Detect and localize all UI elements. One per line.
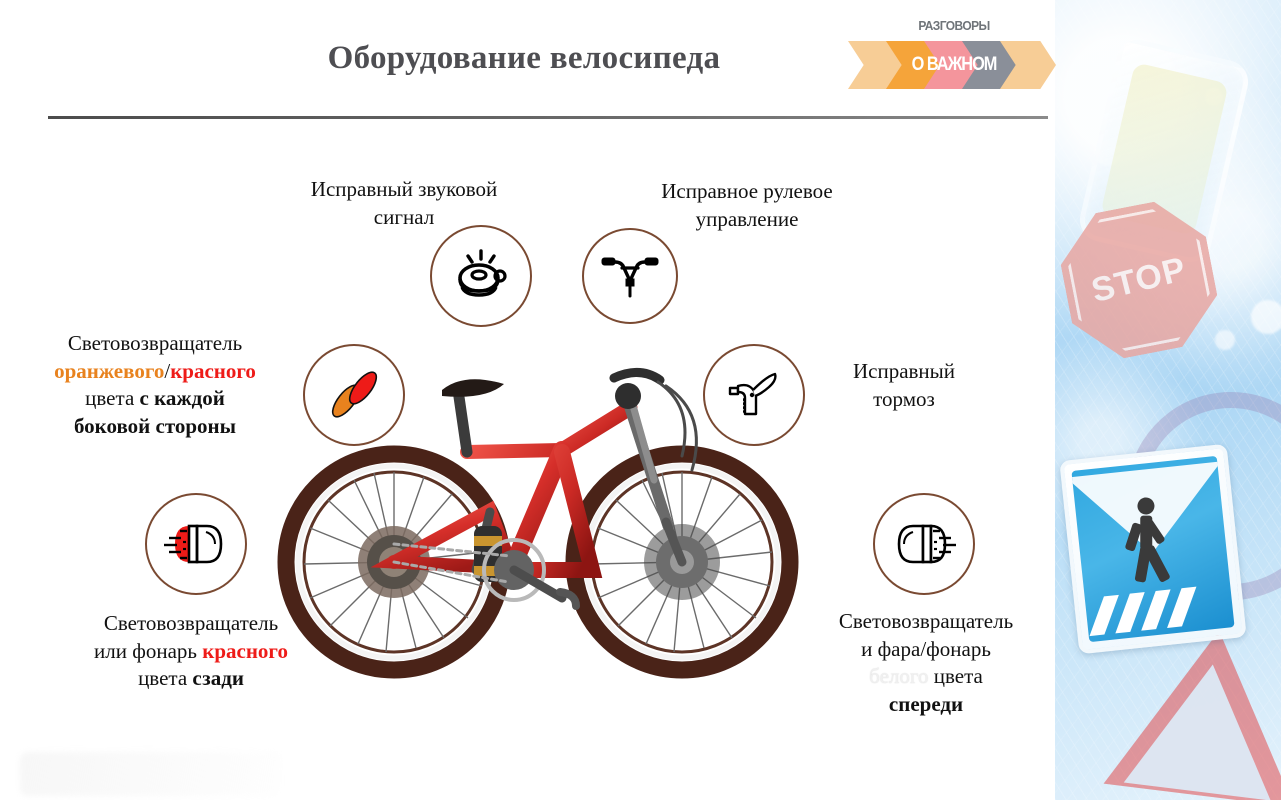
caption-front-plain: цвета <box>928 664 982 688</box>
caption-rear-line2: или фонарь красного <box>44 638 338 666</box>
caption-rear-bold: сзади <box>192 666 244 690</box>
caption-side-plain: цвета <box>85 386 139 410</box>
caption-front-line4: спереди <box>790 691 1062 719</box>
caption-side-reflector: Световозвращатель оранжевого/красного цв… <box>10 330 300 441</box>
icon-circle-steering <box>582 228 678 324</box>
ped-sign-figure <box>1119 494 1191 600</box>
icon-circle-front-light <box>873 493 975 595</box>
icon-circle-rear-light <box>145 493 247 595</box>
brand-logo-subtitle: О ВАЖНОМ <box>863 41 1045 89</box>
caption-horn: Исправный звуковой сигнал <box>258 176 550 231</box>
word-red: красного <box>170 359 256 383</box>
yield-triangle-inner <box>1124 655 1281 800</box>
front-white-lamp-icon <box>891 518 957 570</box>
caption-brake-line2: тормоз <box>808 386 1000 414</box>
panel-glow <box>1215 330 1235 350</box>
caption-front-white-word: белого <box>869 664 928 688</box>
corner-watermark <box>20 752 280 796</box>
panel-glow <box>1251 300 1281 334</box>
ped-sign-field <box>1071 456 1234 642</box>
caption-side-line2: оранжевого/красного <box>10 358 300 386</box>
caption-front-line1: Световозвращатель <box>790 608 1062 636</box>
caption-front-bold: спереди <box>889 692 963 716</box>
brake-lever-icon <box>723 368 785 422</box>
brand-logo-word: РАЗГОВОРЫ <box>856 18 1051 33</box>
caption-steering: Исправное рулевое управление <box>610 178 884 233</box>
word-orange: оранжевого <box>54 359 164 383</box>
icon-circle-brake <box>703 344 805 446</box>
icon-circle-horn <box>430 225 532 327</box>
caption-front-light: Световозвращатель и фара/фонарь белого ц… <box>790 608 1062 719</box>
caption-rear-plain2: цвета <box>138 666 192 690</box>
caption-rear-red: красного <box>202 639 288 663</box>
decorative-road-sign-panel: STOP <box>1055 0 1281 800</box>
caption-rear-plain: или фонарь <box>94 639 202 663</box>
handlebar-icon <box>600 251 660 301</box>
caption-steering-line2: управление <box>610 206 884 234</box>
caption-rear-line3: цвета сзади <box>44 665 338 693</box>
caption-rear-light: Световозвращатель или фонарь красного цв… <box>44 610 338 693</box>
caption-horn-line2: сигнал <box>258 204 550 232</box>
caption-side-bold1: с каждой <box>140 386 225 410</box>
caption-front-line2: и фара/фонарь <box>790 636 1062 664</box>
rear-red-lamp-icon <box>163 518 229 570</box>
caption-side-line3: цвета с каждой <box>10 385 300 413</box>
caption-steering-line1: Исправное рулевое <box>610 178 884 206</box>
brand-logo: РАЗГОВОРЫ О ВАЖНОМ <box>848 18 1060 96</box>
slide-root: STOP Оборудование велосипеда <box>0 0 1281 800</box>
caption-rear-line1: Световозвращатель <box>44 610 338 638</box>
icon-circle-side-reflector <box>303 344 405 446</box>
caption-side-bold2: боковой стороны <box>74 414 236 438</box>
header-divider <box>48 116 1048 119</box>
caption-side-line4: боковой стороны <box>10 413 300 441</box>
pedestrian-crossing-sign-icon <box>1059 444 1246 654</box>
caption-brake: Исправный тормоз <box>808 358 1000 413</box>
caption-brake-line1: Исправный <box>808 358 1000 386</box>
caption-side-line1: Световозвращатель <box>10 330 300 358</box>
side-reflectors-icon <box>323 367 385 423</box>
caption-horn-line1: Исправный звуковой <box>258 176 550 204</box>
caption-front-line3: белого цвета <box>790 663 1062 691</box>
bicycle-bell-icon <box>452 247 510 305</box>
